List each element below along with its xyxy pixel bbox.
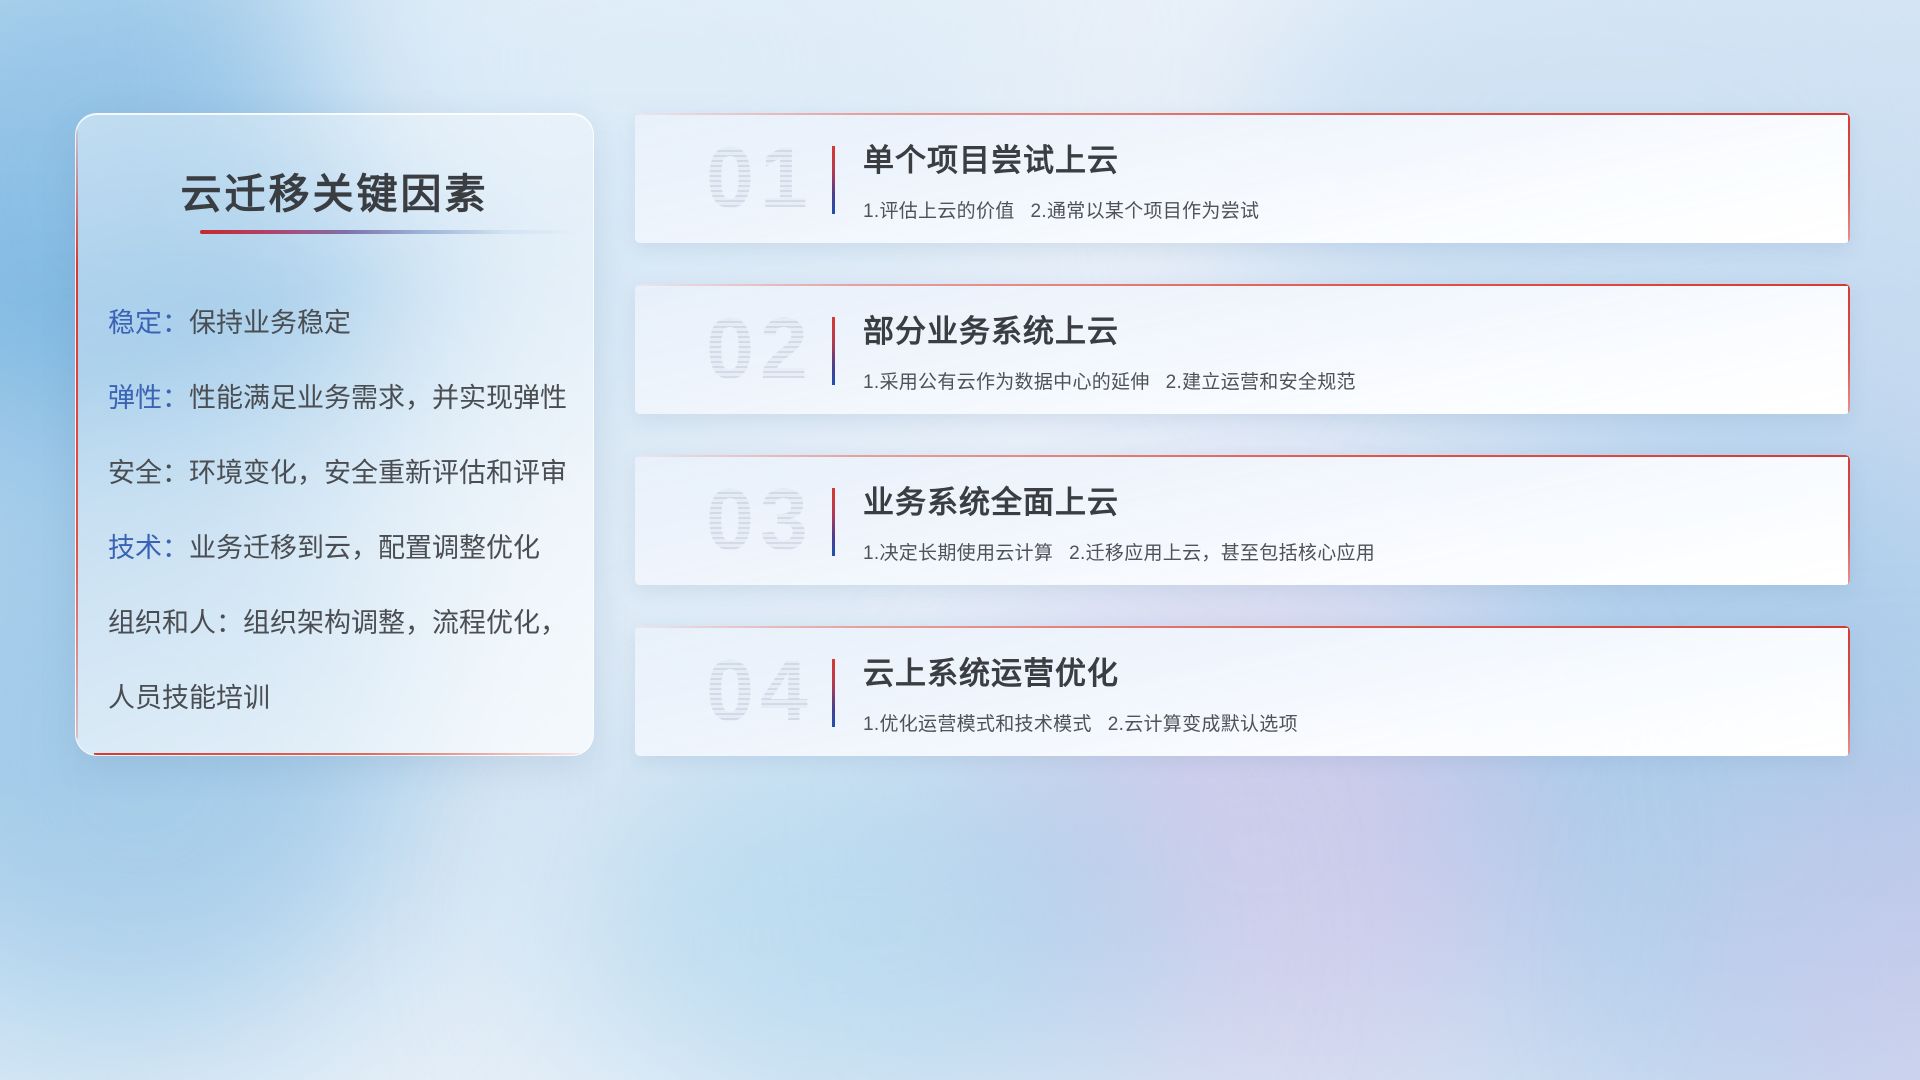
factor-item: 人员技能培训 <box>108 685 573 712</box>
factor-label: 技术： <box>108 533 189 563</box>
panel-title: 云迁移关键因素 <box>76 160 593 220</box>
factor-value: 保持业务稳定 <box>189 308 351 338</box>
step-point: 2.迁移应用上云，甚至包括核心应用 <box>1069 543 1375 564</box>
step-point: 2.云计算变成默认选项 <box>1108 714 1298 735</box>
step-card[interactable]: 02部分业务系统上云1.采用公有云作为数据中心的延伸2.建立运营和安全规范 <box>635 284 1850 414</box>
step-accent-bar <box>832 146 835 214</box>
factor-label: 安全： <box>108 458 189 488</box>
title-underline-accent <box>200 230 582 234</box>
factor-item: 组织和人：组织架构调整，流程优化， <box>108 610 573 637</box>
step-content: 单个项目尝试上云1.评估上云的价值2.通常以某个项目作为尝试 <box>863 135 1810 223</box>
step-point: 2.通常以某个项目作为尝试 <box>1031 201 1260 222</box>
factor-item: 技术：业务迁移到云，配置调整优化 <box>108 535 573 562</box>
factor-value: 业务迁移到云，配置调整优化 <box>189 533 540 563</box>
factor-item: 安全：环境变化，安全重新评估和评审 <box>108 460 573 487</box>
factor-value: 人员技能培训 <box>108 683 270 713</box>
step-title: 业务系统全面上云 <box>863 477 1810 522</box>
step-point: 1.评估上云的价值 <box>863 201 1015 222</box>
step-card[interactable]: 03业务系统全面上云1.决定长期使用云计算2.迁移应用上云，甚至包括核心应用 <box>635 455 1850 585</box>
factor-value: 性能满足业务需求，并实现弹性 <box>189 383 567 413</box>
migration-steps-list: 01单个项目尝试上云1.评估上云的价值2.通常以某个项目作为尝试02部分业务系统… <box>635 113 1850 797</box>
step-number-watermark: 02 <box>665 286 855 412</box>
step-number-watermark: 01 <box>665 115 855 241</box>
factor-item: 弹性：性能满足业务需求，并实现弹性 <box>108 385 573 412</box>
step-points: 1.决定长期使用云计算2.迁移应用上云，甚至包括核心应用 <box>863 538 1810 565</box>
factor-value: 环境变化，安全重新评估和评审 <box>189 458 567 488</box>
step-title: 单个项目尝试上云 <box>863 135 1810 180</box>
step-content: 部分业务系统上云1.采用公有云作为数据中心的延伸2.建立运营和安全规范 <box>863 306 1810 394</box>
step-point: 1.采用公有云作为数据中心的延伸 <box>863 372 1150 393</box>
factor-value: 组织架构调整，流程优化， <box>243 608 567 638</box>
step-accent-bar <box>832 659 835 727</box>
slide-stage: 云迁移关键因素 稳定：保持业务稳定弹性：性能满足业务需求，并实现弹性安全：环境变… <box>0 0 1920 1080</box>
step-point: 1.优化运营模式和技术模式 <box>863 714 1092 735</box>
step-number-watermark: 04 <box>665 628 855 754</box>
step-points: 1.优化运营模式和技术模式2.云计算变成默认选项 <box>863 709 1810 736</box>
step-title: 云上系统运营优化 <box>863 648 1810 693</box>
step-number-watermark: 03 <box>665 457 855 583</box>
factor-item: 稳定：保持业务稳定 <box>108 310 573 337</box>
factor-label: 弹性： <box>108 383 189 413</box>
factor-label: 组织和人： <box>108 608 243 638</box>
step-points: 1.采用公有云作为数据中心的延伸2.建立运营和安全规范 <box>863 367 1810 394</box>
step-content: 云上系统运营优化1.优化运营模式和技术模式2.云计算变成默认选项 <box>863 648 1810 736</box>
step-card[interactable]: 01单个项目尝试上云1.评估上云的价值2.通常以某个项目作为尝试 <box>635 113 1850 243</box>
key-factors-list: 稳定：保持业务稳定弹性：性能满足业务需求，并实现弹性安全：环境变化，安全重新评估… <box>108 310 573 752</box>
step-title: 部分业务系统上云 <box>863 306 1810 351</box>
step-accent-bar <box>832 488 835 556</box>
step-card[interactable]: 04云上系统运营优化1.优化运营模式和技术模式2.云计算变成默认选项 <box>635 626 1850 756</box>
step-point: 2.建立运营和安全规范 <box>1166 372 1356 393</box>
step-points: 1.评估上云的价值2.通常以某个项目作为尝试 <box>863 196 1810 223</box>
step-accent-bar <box>832 317 835 385</box>
key-factors-panel: 云迁移关键因素 稳定：保持业务稳定弹性：性能满足业务需求，并实现弹性安全：环境变… <box>75 113 594 756</box>
step-content: 业务系统全面上云1.决定长期使用云计算2.迁移应用上云，甚至包括核心应用 <box>863 477 1810 565</box>
step-point: 1.决定长期使用云计算 <box>863 543 1053 564</box>
factor-label: 稳定： <box>108 308 189 338</box>
